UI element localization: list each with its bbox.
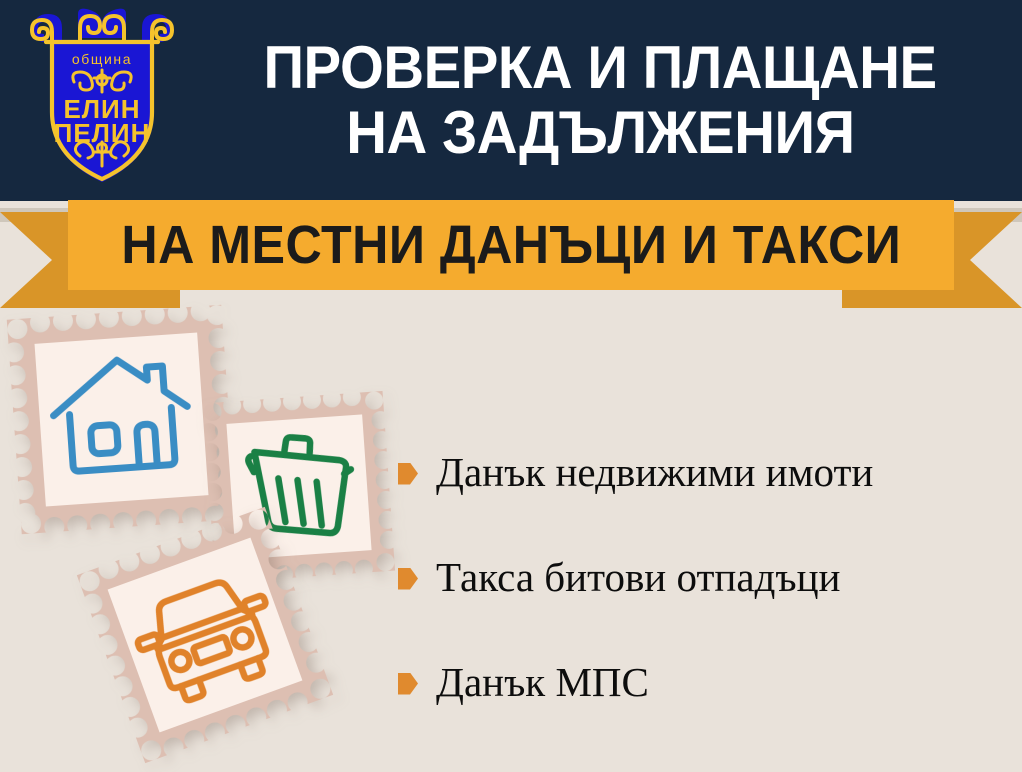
ribbon-subtitle: НА МЕСТНИ ДАНЪЦИ И ТАКСИ xyxy=(121,214,901,276)
svg-text:община: община xyxy=(72,51,132,67)
list-item-label: Такса битови отпадъци xyxy=(436,557,840,598)
stamp-house xyxy=(7,305,236,534)
ribbon-main-band: НА МЕСТНИ ДАНЪЦИ И ТАКСИ xyxy=(68,200,954,290)
list-item-waste-fee[interactable]: Такса битови отпадъци xyxy=(398,525,1018,630)
tax-type-list: Данък недвижими имоти Такса битови отпад… xyxy=(398,420,1018,735)
list-item-label: Данък МПС xyxy=(436,662,649,703)
list-item-property-tax[interactable]: Данък недвижими имоти xyxy=(398,420,1018,525)
bullet-arrow-icon xyxy=(398,673,418,695)
ribbon-banner: НА МЕСТНИ ДАНЪЦИ И ТАКСИ xyxy=(0,196,1022,311)
list-item-vehicle-tax[interactable]: Данък МПС xyxy=(398,630,1018,735)
bullet-arrow-icon xyxy=(398,568,418,590)
elin-pelin-coat-of-arms-icon: община ЕЛИН ПЕЛИН xyxy=(26,8,178,190)
list-item-label: Данък недвижими имоти xyxy=(436,452,873,493)
bullet-arrow-icon xyxy=(398,463,418,485)
poster-root: община ЕЛИН ПЕЛИН ПРОВЕРКА И ПЛАЩАНЕ НА … xyxy=(0,0,1022,772)
